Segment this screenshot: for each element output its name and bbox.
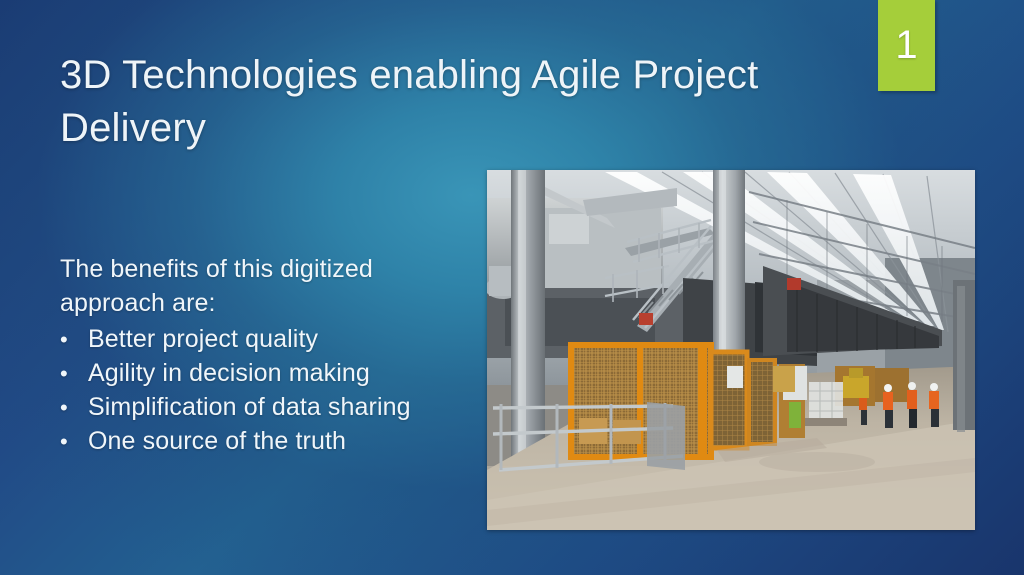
benefits-bullet-list: • Better project quality • Agility in de…	[60, 322, 480, 458]
list-item-label: One source of the truth	[88, 424, 480, 458]
list-item-label: Simplification of data sharing	[88, 390, 480, 424]
list-item: • Better project quality	[60, 322, 480, 356]
list-item-label: Better project quality	[88, 322, 480, 356]
list-item: • Simplification of data sharing	[60, 390, 480, 424]
bullet-dot-icon: •	[60, 393, 88, 423]
factory-interior-photo	[487, 170, 975, 530]
bullet-dot-icon: •	[60, 359, 88, 389]
bullet-dot-icon: •	[60, 325, 88, 355]
body-intro-text: The benefits of this digitized approach …	[60, 253, 460, 320]
bullet-dot-icon: •	[60, 427, 88, 457]
presentation-slide: 1 3D Technologies enabling Agile Project…	[0, 0, 1024, 575]
list-item: • One source of the truth	[60, 424, 480, 458]
slide-number-badge: 1	[878, 0, 935, 91]
list-item: • Agility in decision making	[60, 356, 480, 390]
list-item-label: Agility in decision making	[88, 356, 480, 390]
slide-title: 3D Technologies enabling Agile Project D…	[60, 49, 800, 155]
slide-number-label: 1	[895, 25, 917, 65]
